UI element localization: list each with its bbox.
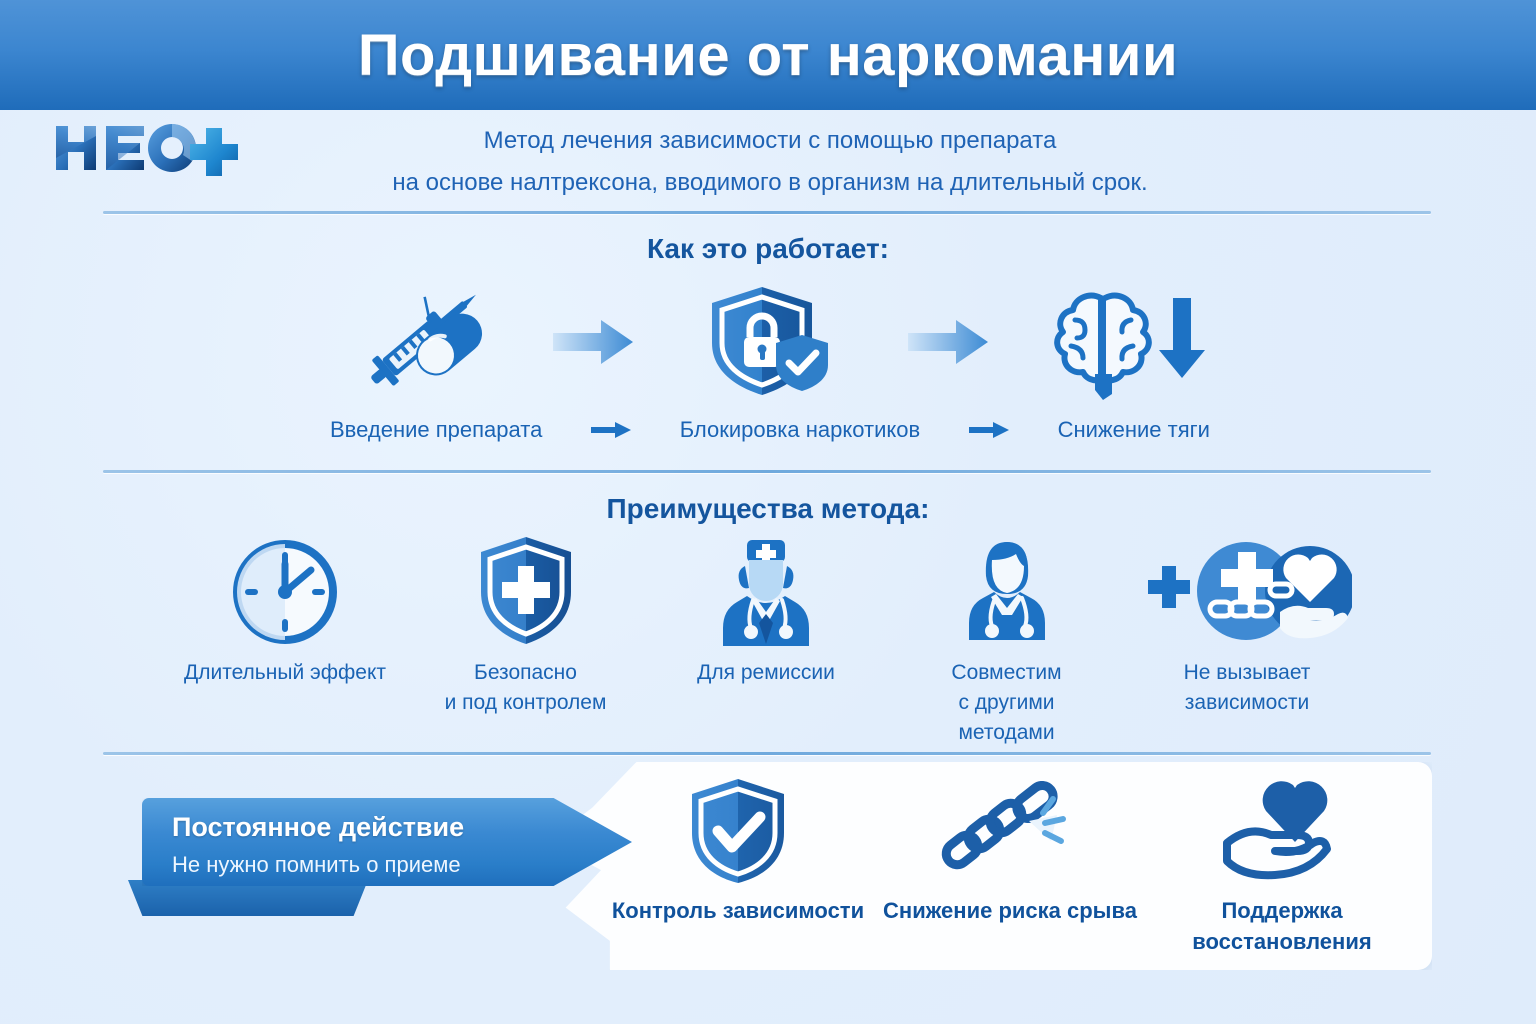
shield-lock-icon: [685, 283, 855, 401]
benefit-label-2-line1: Безопасно: [417, 658, 635, 688]
nurse-stethoscope-icon: [898, 536, 1116, 646]
benefits-heading: Преимущества метода:: [0, 493, 1536, 525]
benefit-label-5-line1: Не вызывает: [1138, 658, 1356, 688]
infographic-page: Подшивание от наркомании: [0, 0, 1536, 1024]
benefit-label-5: Не вызывает зависимости: [1138, 658, 1356, 718]
cross-plus-broken-chain-heart-hand-icon: [1138, 536, 1356, 646]
how-it-works-label-row: Введение препарата Блокировка наркотиков…: [330, 410, 1210, 450]
benefit-label-5-line2: зависимости: [1138, 688, 1356, 718]
benefit-label-2-line2: и под контролем: [417, 688, 635, 718]
brain-down-arrow-icon: [1040, 283, 1210, 401]
how-step-label-1: Введение препарата: [330, 417, 542, 443]
bottom-panel-label-3: Поддержка восстановления: [1154, 895, 1410, 957]
syringe-pill-icon: [330, 283, 500, 401]
ribbon-title: Постоянное действие: [172, 812, 464, 843]
doctor-icon: [657, 536, 875, 646]
bottom-panel-label-1: Контроль зависимости: [610, 895, 866, 926]
divider-middle: [103, 470, 1431, 473]
how-it-works-heading: Как это работает:: [0, 233, 1536, 265]
bottom-panel-label-2: Снижение риска срыва: [882, 895, 1138, 926]
benefits-label-row: Длительный эффект Безопасно и под контро…: [176, 658, 1356, 748]
divider-bottom: [103, 752, 1431, 755]
subtitle-block: Метод лечения зависимости с помощью преп…: [270, 120, 1270, 204]
bottom-panel-icon-row: [610, 775, 1410, 885]
benefit-label-3: Для ремиссии: [657, 658, 875, 688]
benefit-label-1: Длительный эффект: [176, 658, 394, 688]
benefit-label-4-line1: Совместим: [898, 658, 1116, 688]
shield-cross-icon: [417, 536, 635, 646]
neo-plus-logo: [48, 118, 248, 180]
subtitle-line-2: на основе налтрексона, вводимого в орган…: [270, 162, 1270, 204]
how-it-works-section: Введение препарата Блокировка наркотиков…: [330, 282, 1210, 452]
subtitle-line-1: Метод лечения зависимости с помощью преп…: [484, 127, 1057, 154]
small-arrow-icon-2: [963, 420, 1015, 440]
how-step-label-3: Снижение тяги: [1058, 417, 1210, 443]
page-header: Подшивание от наркомании: [0, 0, 1536, 110]
small-arrow-icon-1: [585, 420, 637, 440]
bottom-panel-label-3-line1: Поддержка: [1154, 895, 1410, 926]
clock-icon: [176, 536, 394, 646]
benefit-label-4-line3: методами: [898, 718, 1116, 748]
benefit-label-2: Безопасно и под контролем: [417, 658, 635, 718]
how-step-label-2: Блокировка наркотиков: [680, 417, 920, 443]
page-title: Подшивание от наркомании: [358, 22, 1178, 89]
divider-top: [103, 211, 1431, 214]
benefits-icon-row: [176, 536, 1356, 646]
broken-chain-icon: [882, 775, 1138, 885]
ribbon-subtitle: Не нужно помнить о приеме: [172, 852, 461, 878]
arrow-right-icon-2: [903, 312, 993, 372]
bottom-panel-label-3-line2: восстановления: [1154, 926, 1410, 957]
shield-check-icon: [610, 775, 866, 885]
bottom-panel-label-row: Контроль зависимости Снижение риска срыв…: [610, 895, 1410, 957]
benefit-label-4: Совместим с другими методами: [898, 658, 1116, 748]
hand-heart-icon: [1154, 775, 1410, 885]
benefits-section: Длительный эффект Безопасно и под контро…: [176, 536, 1356, 746]
arrow-right-icon-1: [548, 312, 638, 372]
how-it-works-icon-row: [330, 282, 1210, 402]
bottom-panel-items: Контроль зависимости Снижение риска срыв…: [610, 775, 1410, 975]
benefit-label-4-line2: с другими: [898, 688, 1116, 718]
